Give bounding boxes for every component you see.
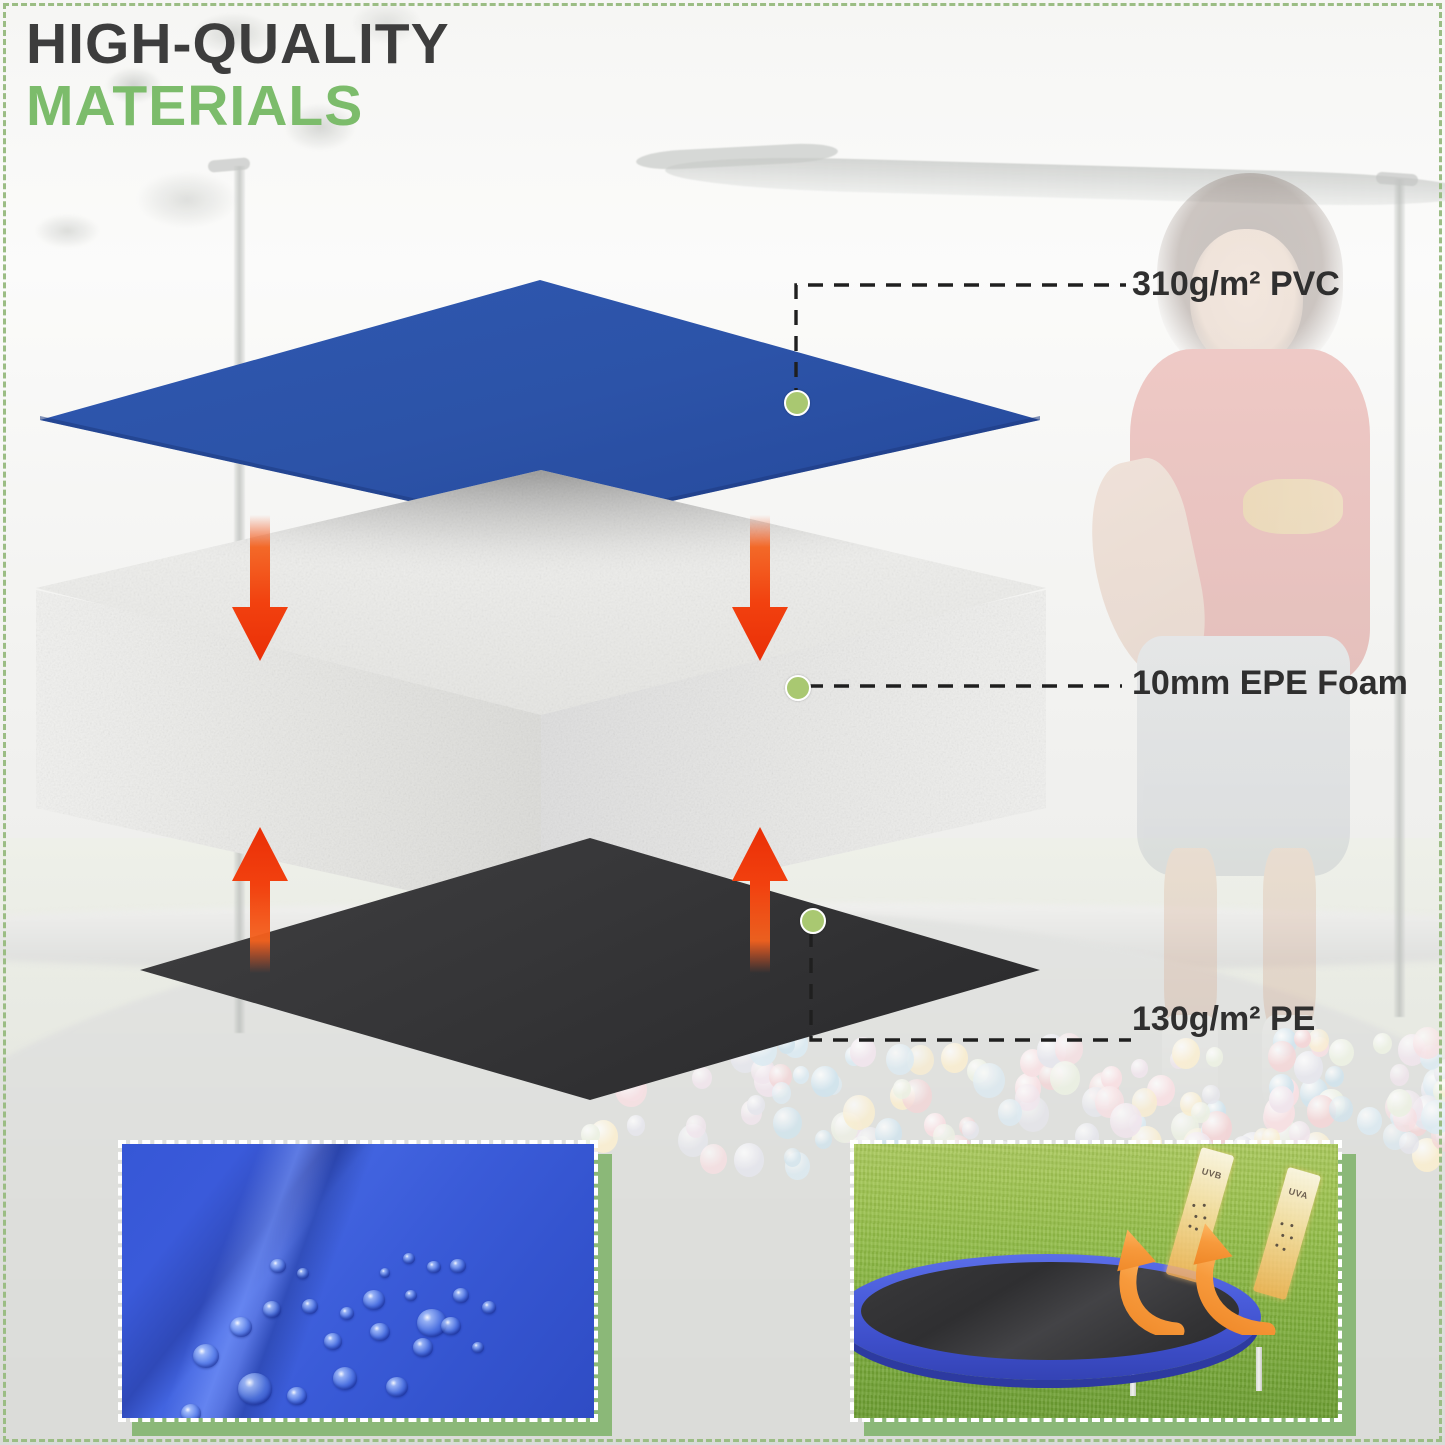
water-droplet bbox=[427, 1261, 441, 1274]
water-droplet bbox=[370, 1323, 390, 1341]
uv-beam-label-uva: UVA bbox=[1281, 1184, 1316, 1203]
panel-frame-left bbox=[118, 1140, 598, 1422]
water-droplet bbox=[238, 1373, 272, 1404]
panel-waterproof-fabric[interactable] bbox=[118, 1140, 598, 1422]
water-droplet bbox=[263, 1301, 281, 1318]
trampoline-leg-2 bbox=[1256, 1347, 1262, 1391]
water-droplet bbox=[270, 1259, 286, 1274]
water-droplet bbox=[441, 1317, 461, 1335]
panel-uv-resistant[interactable]: UVB UVA bbox=[850, 1140, 1342, 1422]
water-droplet bbox=[193, 1344, 219, 1368]
callout-label-pe: 130g/m² PE bbox=[1132, 1000, 1315, 1039]
water-droplet bbox=[403, 1253, 415, 1264]
water-droplet bbox=[181, 1404, 201, 1422]
water-droplet bbox=[324, 1333, 342, 1350]
water-droplet bbox=[380, 1268, 390, 1277]
water-droplet bbox=[363, 1290, 385, 1310]
uv-beam-label-uvb: UVB bbox=[1194, 1165, 1229, 1184]
infographic-root: HIGH-QUALITY MATERIALS bbox=[0, 0, 1445, 1445]
leader-line-pe bbox=[805, 930, 1135, 1050]
water-droplet bbox=[413, 1338, 433, 1356]
water-droplet bbox=[453, 1288, 469, 1303]
uv-bounce-arrow-2 bbox=[1173, 1215, 1303, 1335]
water-droplet bbox=[405, 1290, 417, 1301]
panel-frame-right: UVB UVA bbox=[850, 1140, 1342, 1422]
callout-dot-pe[interactable] bbox=[800, 908, 826, 934]
water-droplet bbox=[333, 1367, 357, 1389]
water-droplet bbox=[302, 1299, 318, 1314]
water-droplet bbox=[386, 1377, 408, 1397]
